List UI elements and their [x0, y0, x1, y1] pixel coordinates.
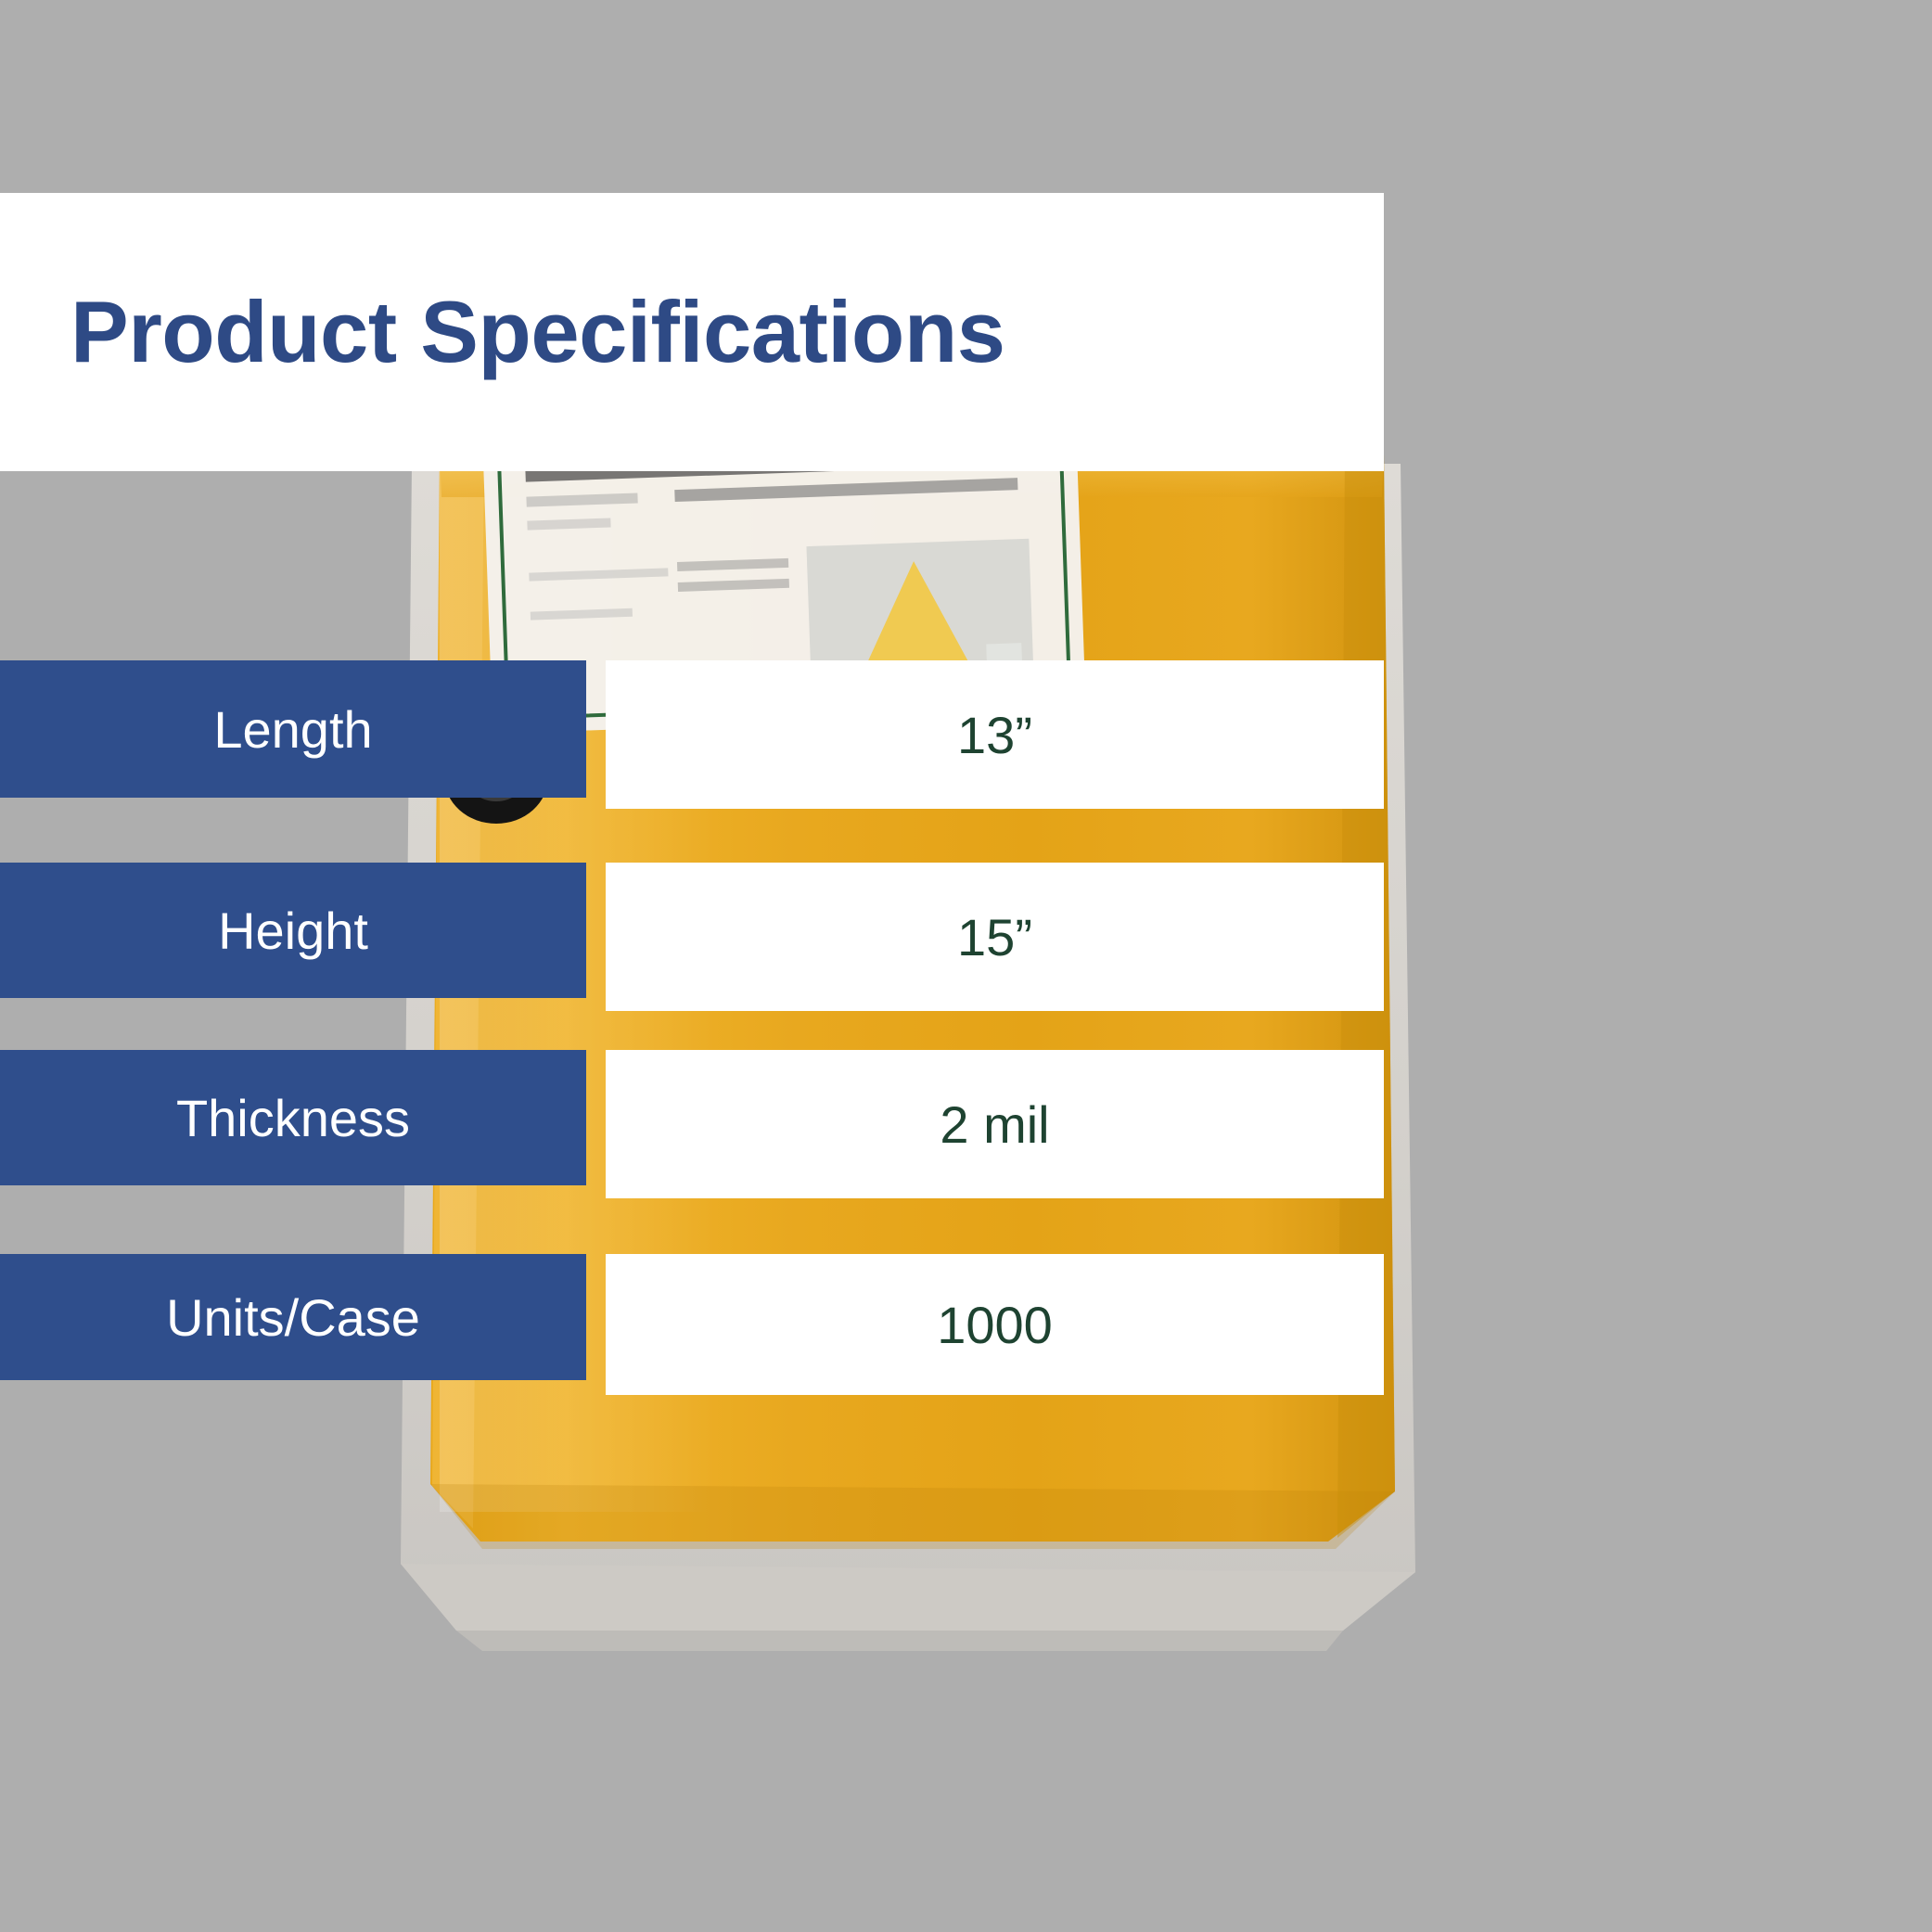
- infographic-canvas: Product Specifications Length13”Height15…: [0, 0, 1932, 1932]
- spec-value: 2 mil: [606, 1050, 1384, 1198]
- spec-value: 13”: [606, 660, 1384, 809]
- spec-value: 15”: [606, 863, 1384, 1011]
- spec-row: Thickness2 mil: [0, 1050, 1384, 1198]
- spec-row: Length13”: [0, 660, 1384, 809]
- spec-label: Units/Case: [0, 1254, 586, 1380]
- spec-value: 1000: [606, 1254, 1384, 1395]
- spec-label: Height: [0, 863, 586, 998]
- spec-label: Thickness: [0, 1050, 586, 1185]
- page-title: Product Specifications: [70, 287, 1005, 378]
- spec-label: Length: [0, 660, 586, 798]
- spec-row: Units/Case1000: [0, 1254, 1384, 1395]
- header-band: Product Specifications: [0, 193, 1384, 471]
- spec-row: Height15”: [0, 863, 1384, 1011]
